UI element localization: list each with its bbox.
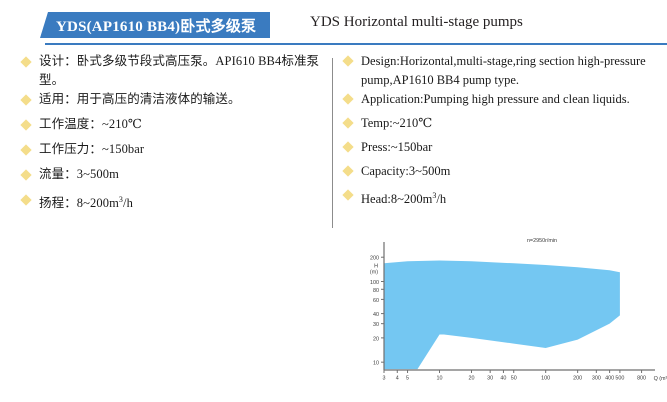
diamond-bullet-icon [20,119,31,130]
list-item: 工作压力：~150bar [22,140,327,165]
x-tick-label: 3 [383,376,386,382]
diamond-bullet-icon [342,141,353,152]
list-item-label: Press:~150bar [361,138,662,157]
spec-list-english: Design:Horizontal,multi-stage,ring secti… [344,52,662,210]
y-tick-label: 20 [373,336,379,342]
x-tick-label: 20 [468,376,474,382]
x-axis-title: Q (m³/h) [654,376,667,382]
y-tick-label: 40 [373,312,379,318]
performance-envelope-svg: 102030406080100200H(m)345102030405010020… [352,230,667,402]
y-tick-label: 200 [370,256,379,262]
list-item-label: 工作温度：~210℃ [39,115,327,134]
list-item-label: Design:Horizontal,multi-stage,ring secti… [361,52,662,90]
list-item: Temp:~210℃ [344,114,662,138]
list-item: 适用：用于高压的清洁液体的输送。 [22,90,327,115]
list-item: 工作温度：~210℃ [22,115,327,140]
x-tick-label: 50 [511,376,517,382]
list-item-text: Head:8~200m [361,192,432,206]
list-item: Head:8~200m3/h [344,186,662,210]
diamond-bullet-icon [20,56,31,67]
diamond-bullet-icon [342,93,353,104]
y-tick-label: 80 [373,288,379,294]
diamond-bullet-icon [342,165,353,176]
diamond-bullet-icon [20,194,31,205]
x-tick-label: 800 [637,376,646,382]
x-tick-label: 200 [573,376,582,382]
y-tick-label: 100 [370,280,379,286]
diamond-bullet-icon [20,169,31,180]
x-tick-label: 4 [396,376,399,382]
y-tick-label: 60 [373,298,379,304]
list-item: Press:~150bar [344,138,662,162]
list-item: Application:Pumping high pressure and cl… [344,90,662,114]
page-title: YDS(AP1610 BB4)卧式多级泵 [56,15,256,36]
y-axis-title-unit: (m) [370,269,378,275]
list-item-label: 设计：卧式多级节段式高压泵。API610 BB4标准泵型。 [39,52,327,90]
y-tick-label: 10 [373,361,379,367]
spec-columns: 设计：卧式多级节段式高压泵。API610 BB4标准泵型。 适用：用于高压的清洁… [0,52,667,232]
diamond-bullet-icon [342,55,353,66]
page-header: YDS(AP1610 BB4)卧式多级泵 YDS Horizontal mult… [0,0,667,50]
x-tick-label: 40 [500,376,506,382]
list-item: 扬程：8~200m3/h [22,190,327,215]
list-item-label: 工作压力：~150bar [39,140,327,159]
title-banner: YDS(AP1610 BB4)卧式多级泵 [40,12,270,38]
envelope-area [384,260,620,369]
chart-annotation: n=2950r/min [527,238,557,244]
list-item: 设计：卧式多级节段式高压泵。API610 BB4标准泵型。 [22,52,327,90]
list-item-tail: /h [436,192,446,206]
list-item-tail: /h [123,196,133,210]
list-item-label: 流量：3~500m [39,165,327,184]
list-item-label: Temp:~210℃ [361,114,662,133]
page-subtitle: YDS Horizontal multi-stage pumps [310,14,523,31]
x-tick-label: 500 [615,376,624,382]
x-tick-label: 400 [605,376,614,382]
list-item-text: 扬程：8~200m [39,196,119,210]
column-divider [332,58,333,228]
diamond-bullet-icon [20,94,31,105]
diamond-bullet-icon [342,189,353,200]
x-tick-label: 10 [437,376,443,382]
list-item-label: Head:8~200m3/h [361,186,662,209]
x-tick-label: 30 [487,376,493,382]
list-item: Capacity:3~500m [344,162,662,186]
x-tick-label: 100 [541,376,550,382]
spec-list-chinese: 设计：卧式多级节段式高压泵。API610 BB4标准泵型。 适用：用于高压的清洁… [22,52,327,215]
pump-performance-chart: 102030406080100200H(m)345102030405010020… [352,230,667,402]
list-item-label: Capacity:3~500m [361,162,662,181]
list-item: Design:Horizontal,multi-stage,ring secti… [344,52,662,90]
list-item-label: 扬程：8~200m3/h [39,190,327,213]
x-tick-label: 5 [406,376,409,382]
list-item-label: 适用：用于高压的清洁液体的输送。 [39,90,327,109]
list-item-label: Application:Pumping high pressure and cl… [361,90,662,109]
diamond-bullet-icon [342,117,353,128]
header-divider-rule [45,43,667,45]
list-item: 流量：3~500m [22,165,327,190]
y-tick-label: 30 [373,322,379,328]
x-tick-label: 300 [592,376,601,382]
diamond-bullet-icon [20,144,31,155]
